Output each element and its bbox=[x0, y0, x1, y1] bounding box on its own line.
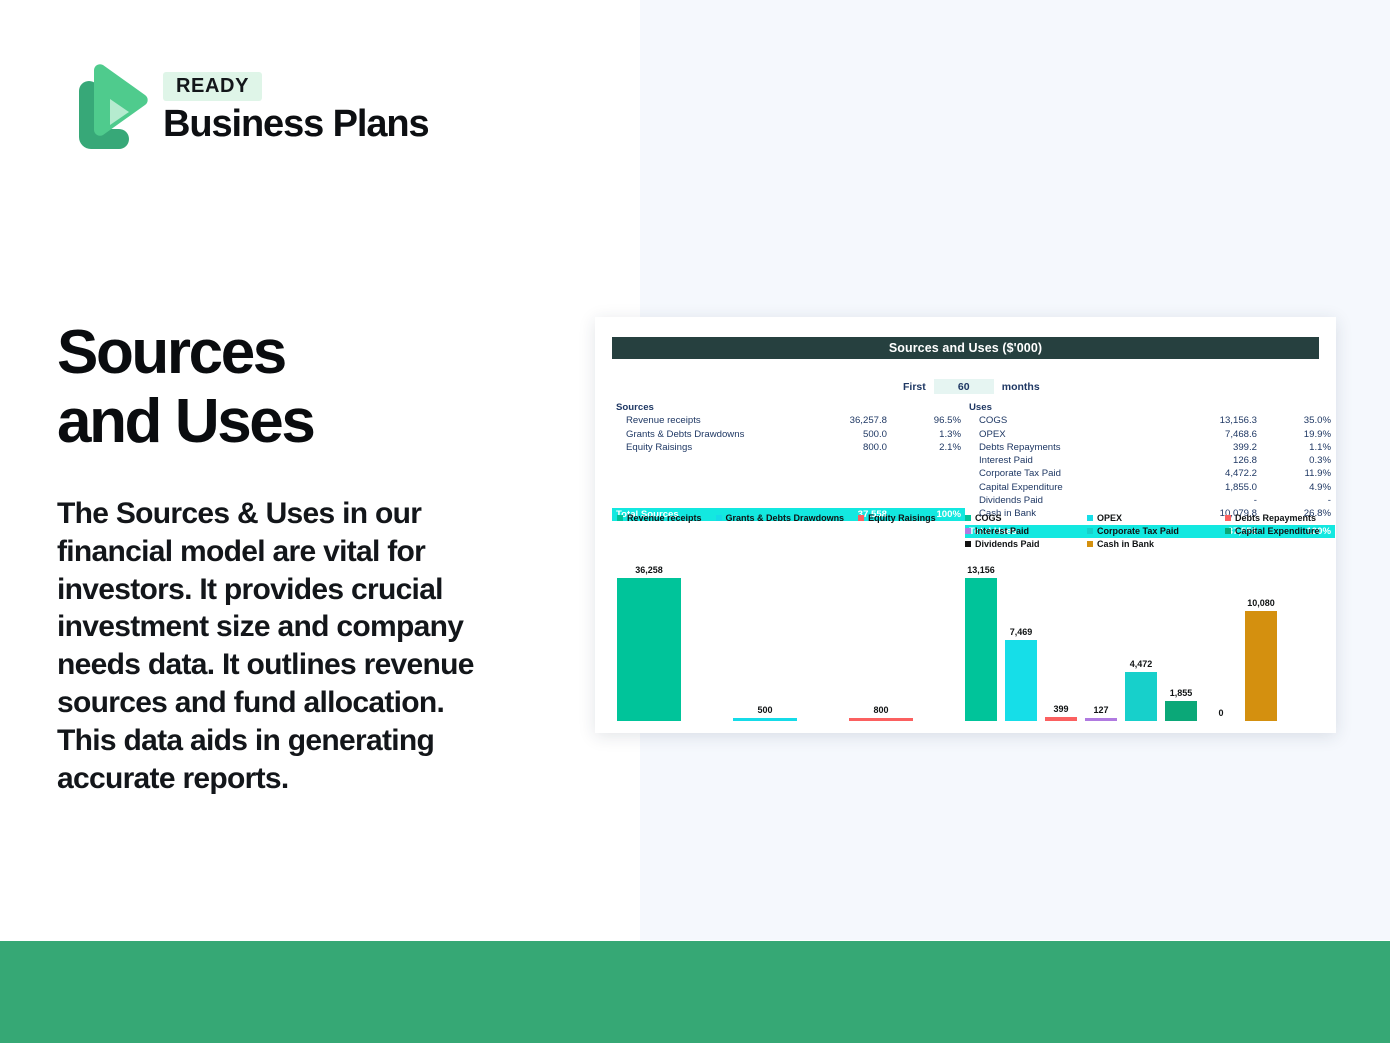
uses-bar-chart: 13,1567,4693991274,4721,855010,080 bbox=[965, 561, 1336, 733]
row-label: Equity Raisings bbox=[612, 441, 809, 454]
bar[interactable] bbox=[849, 718, 913, 721]
sources-table-spacer bbox=[612, 454, 965, 504]
legend-label: Grants & Debts Drawdowns bbox=[726, 513, 845, 523]
page-title: Sources and Uses bbox=[57, 318, 577, 457]
row-label: Corporate Tax Paid bbox=[965, 468, 1179, 481]
uses-bar-slot[interactable]: 7,469 bbox=[1005, 561, 1037, 721]
table-row: Dividends Paid - - bbox=[965, 494, 1335, 507]
row-value: 4,472.2 bbox=[1179, 468, 1271, 481]
table-row: Debts Repayments 399.2 1.1% bbox=[965, 441, 1335, 454]
sources-legend-item[interactable]: Grants & Debts Drawdowns bbox=[716, 513, 845, 523]
legend-label: Capital Expenditure bbox=[1235, 526, 1320, 536]
brand-wordmark: READY Business Plans bbox=[163, 70, 429, 145]
row-value: 126.8 bbox=[1179, 454, 1271, 467]
row-pct: 19.9% bbox=[1271, 428, 1335, 441]
row-pct: 1.3% bbox=[901, 428, 965, 441]
legend-swatch-icon bbox=[965, 528, 971, 534]
bar[interactable] bbox=[1125, 672, 1157, 721]
row-pct: 11.9% bbox=[1271, 468, 1335, 481]
chart-legends: Revenue receiptsGrants & Debts Drawdowns… bbox=[595, 513, 1336, 549]
bar-value-label: 36,258 bbox=[635, 565, 663, 575]
bar-value-label: 0 bbox=[1218, 708, 1223, 718]
period-prefix-label: First bbox=[903, 381, 926, 393]
period-months-input[interactable] bbox=[934, 379, 994, 394]
row-label: Interest Paid bbox=[965, 454, 1179, 467]
uses-bar-slot[interactable]: 1,855 bbox=[1165, 561, 1197, 721]
row-value: 36,257.8 bbox=[809, 415, 901, 428]
uses-bar-slot[interactable]: 399 bbox=[1045, 561, 1077, 721]
bar-value-label: 500 bbox=[757, 705, 772, 715]
row-value: 13,156.3 bbox=[1179, 415, 1271, 428]
legend-label: Cash in Bank bbox=[1097, 539, 1154, 549]
uses-legend-item[interactable]: OPEX bbox=[1087, 513, 1225, 523]
row-pct: 35.0% bbox=[1271, 415, 1335, 428]
bar-value-label: 399 bbox=[1053, 704, 1068, 714]
row-value: 500.0 bbox=[809, 428, 901, 441]
legend-label: Equity Raisings bbox=[868, 513, 936, 523]
row-label: Grants & Debts Drawdowns bbox=[612, 428, 809, 441]
bar-value-label: 800 bbox=[873, 705, 888, 715]
row-label: COGS bbox=[965, 415, 1179, 428]
slide-page: READY Business Plans Sources and Uses Th… bbox=[0, 0, 1390, 1043]
bar-value-label: 127 bbox=[1093, 705, 1108, 715]
bar-value-label: 13,156 bbox=[967, 565, 995, 575]
legend-label: Revenue receipts bbox=[627, 513, 702, 523]
uses-legend-item[interactable]: COGS bbox=[965, 513, 1087, 523]
legend-swatch-icon bbox=[858, 515, 864, 521]
uses-chart-legend: COGSOPEXDebts RepaymentsInterest PaidCor… bbox=[965, 513, 1336, 549]
page-description: The Sources & Uses in our financial mode… bbox=[57, 495, 509, 797]
bar[interactable] bbox=[1165, 701, 1197, 721]
table-row: OPEX 7,468.6 19.9% bbox=[965, 428, 1335, 441]
uses-legend-item[interactable]: Debts Repayments bbox=[1225, 513, 1336, 523]
row-pct: 2.1% bbox=[901, 441, 965, 454]
sources-bar-slot[interactable]: 36,258 bbox=[617, 561, 681, 721]
row-label: Capital Expenditure bbox=[965, 481, 1179, 494]
legend-swatch-icon bbox=[1087, 528, 1093, 534]
sheet-title: Sources and Uses ($'000) bbox=[612, 337, 1319, 359]
period-selector-row: First months bbox=[595, 379, 1336, 394]
legend-swatch-icon bbox=[965, 541, 971, 547]
table-row: Grants & Debts Drawdowns 500.0 1.3% bbox=[612, 428, 965, 441]
legend-swatch-icon bbox=[1225, 528, 1231, 534]
table-row: Interest Paid 126.8 0.3% bbox=[965, 454, 1335, 467]
table-row: Equity Raisings 800.0 2.1% bbox=[612, 441, 965, 454]
footer-green-band bbox=[0, 941, 1390, 1043]
bar-value-label: 7,469 bbox=[1010, 627, 1033, 637]
row-pct: 4.9% bbox=[1271, 481, 1335, 494]
row-label: Debts Repayments bbox=[965, 441, 1179, 454]
uses-legend-item[interactable]: Capital Expenditure bbox=[1225, 526, 1336, 536]
period-unit-label: months bbox=[1002, 381, 1040, 393]
report-card: Sources and Uses ($'000) First months So… bbox=[595, 317, 1336, 733]
play-triangle-logo-icon bbox=[57, 57, 149, 157]
bar[interactable] bbox=[1085, 718, 1117, 721]
brand-logo[interactable]: READY Business Plans bbox=[57, 57, 429, 157]
bar[interactable] bbox=[1245, 611, 1277, 721]
uses-table: Uses COGS 13,156.3 35.0% OPEX 7,468.6 bbox=[965, 401, 1335, 521]
table-row: Corporate Tax Paid 4,472.2 11.9% bbox=[965, 468, 1335, 481]
table-row: Capital Expenditure 1,855.0 4.9% bbox=[965, 481, 1335, 494]
table-row: Revenue receipts 36,257.8 96.5% bbox=[612, 415, 965, 428]
uses-bar-slot[interactable]: 127 bbox=[1085, 561, 1117, 721]
bar[interactable] bbox=[733, 718, 797, 721]
uses-table-header-row: Uses bbox=[965, 401, 1335, 415]
row-value: - bbox=[1179, 494, 1271, 507]
legend-label: Interest Paid bbox=[975, 526, 1029, 536]
uses-legend-item[interactable]: Interest Paid bbox=[965, 526, 1087, 536]
bar-value-label: 1,855 bbox=[1170, 688, 1193, 698]
bar[interactable] bbox=[965, 578, 997, 721]
row-value: 7,468.6 bbox=[1179, 428, 1271, 441]
row-pct: 96.5% bbox=[901, 415, 965, 428]
bar[interactable] bbox=[617, 578, 681, 721]
bar[interactable] bbox=[1045, 717, 1077, 721]
uses-bar-slot[interactable]: 10,080 bbox=[1245, 561, 1277, 721]
uses-bar-slot[interactable]: 13,156 bbox=[965, 561, 997, 721]
legend-swatch-icon bbox=[965, 515, 971, 521]
row-pct: - bbox=[1271, 494, 1335, 507]
page-title-line-2: and Uses bbox=[57, 387, 577, 456]
legend-label: Corporate Tax Paid bbox=[1097, 526, 1179, 536]
legend-label: OPEX bbox=[1097, 513, 1122, 523]
row-pct: 0.3% bbox=[1271, 454, 1335, 467]
brand-name: Business Plans bbox=[163, 105, 429, 145]
sources-chart-legend: Revenue receiptsGrants & Debts Drawdowns… bbox=[595, 513, 965, 549]
charts-area: 36,258500800 13,1567,4693991274,4721,855… bbox=[595, 561, 1336, 733]
sources-legend-item[interactable]: Equity Raisings bbox=[858, 513, 936, 523]
legend-label: Dividends Paid bbox=[975, 539, 1040, 549]
row-pct: 1.1% bbox=[1271, 441, 1335, 454]
legend-swatch-icon bbox=[1087, 541, 1093, 547]
sources-bar-slot[interactable]: 800 bbox=[849, 561, 913, 721]
row-label: OPEX bbox=[965, 428, 1179, 441]
sources-bar-slot[interactable]: 500 bbox=[733, 561, 797, 721]
legend-swatch-icon bbox=[1225, 515, 1231, 521]
row-label: Dividends Paid bbox=[965, 494, 1179, 507]
legend-swatch-icon bbox=[716, 515, 722, 521]
sources-header-label: Sources bbox=[612, 401, 809, 415]
sources-table: Sources Revenue receipts 36,257.8 96.5% … bbox=[612, 401, 965, 454]
uses-bar-slot[interactable]: 4,472 bbox=[1125, 561, 1157, 721]
page-title-line-1: Sources bbox=[57, 318, 577, 387]
row-label: Revenue receipts bbox=[612, 415, 809, 428]
uses-legend-item[interactable]: Cash in Bank bbox=[1087, 539, 1225, 549]
legend-swatch-icon bbox=[617, 515, 623, 521]
sources-bar-chart: 36,258500800 bbox=[595, 561, 965, 733]
row-value: 800.0 bbox=[809, 441, 901, 454]
bar-value-label: 4,472 bbox=[1130, 659, 1153, 669]
uses-bar-slot[interactable]: 0 bbox=[1205, 561, 1237, 721]
row-value: 399.2 bbox=[1179, 441, 1271, 454]
row-value: 1,855.0 bbox=[1179, 481, 1271, 494]
uses-header-label: Uses bbox=[965, 401, 1179, 415]
legend-label: COGS bbox=[975, 513, 1002, 523]
table-row: COGS 13,156.3 35.0% bbox=[965, 415, 1335, 428]
uses-legend-item[interactable]: Dividends Paid bbox=[965, 539, 1087, 549]
uses-legend-item[interactable]: Corporate Tax Paid bbox=[1087, 526, 1225, 536]
bar-value-label: 10,080 bbox=[1247, 598, 1275, 608]
bar[interactable] bbox=[1005, 640, 1037, 721]
ready-badge: READY bbox=[163, 72, 262, 101]
legend-swatch-icon bbox=[1087, 515, 1093, 521]
sources-legend-item[interactable]: Revenue receipts bbox=[617, 513, 702, 523]
sources-table-header-row: Sources bbox=[612, 401, 965, 415]
legend-label: Debts Repayments bbox=[1235, 513, 1316, 523]
